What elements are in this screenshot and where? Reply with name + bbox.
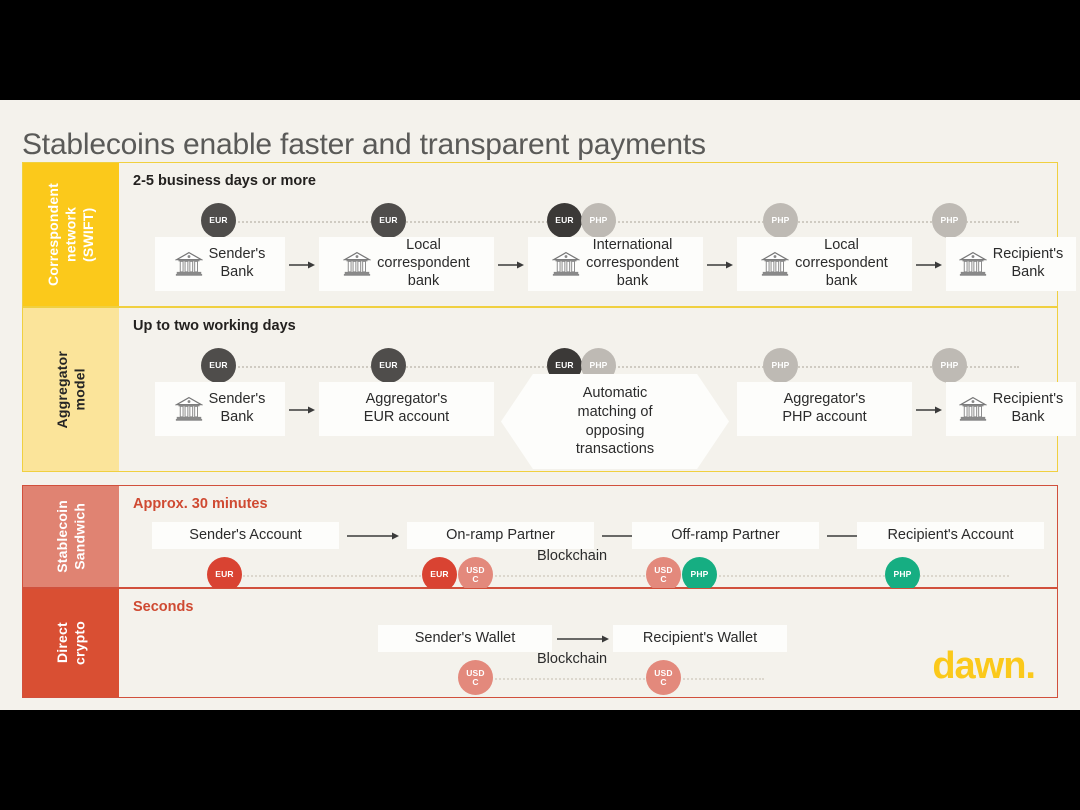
row-correspondent-network-swift: Correspondent network (SWIFT) 2-5 busine… — [22, 162, 1058, 307]
node-recipients-bank[interactable]: Recipient's Bank — [946, 237, 1076, 291]
badge-eur: EUR — [371, 203, 406, 238]
arrow-right-icon — [498, 259, 524, 271]
node-international-correspondent-bank[interactable]: International correspondent bank — [528, 237, 703, 291]
node-senders-account[interactable]: Sender's Account — [152, 522, 339, 549]
arrow-right-icon — [916, 259, 942, 271]
node-label: Sender's Bank — [209, 391, 266, 426]
badge-php: PHP — [932, 348, 967, 383]
node-label: On-ramp Partner — [446, 527, 555, 545]
node-label: Local correspondent bank — [795, 237, 888, 290]
badge-usdc: USD C — [458, 660, 493, 695]
badge-eur: EUR — [547, 203, 582, 238]
bank-icon — [175, 250, 203, 278]
arrow-right-icon — [557, 633, 609, 645]
node-label: Recipient's Wallet — [643, 630, 757, 648]
node-local-correspondent-bank[interactable]: Local correspondent bank — [737, 237, 912, 291]
sidebar-label: Aggregator model — [54, 351, 89, 428]
row-aggregator-model: Aggregator model Up to two working days … — [22, 307, 1058, 472]
badge-php: PHP — [763, 348, 798, 383]
badge-php: PHP — [682, 557, 717, 592]
row-content: Up to two working days EUR EUR EUR PHP P… — [119, 308, 1057, 471]
badge-eur: EUR — [371, 348, 406, 383]
blockchain-label: Blockchain — [537, 651, 607, 667]
arrow-right-icon — [916, 404, 942, 416]
bank-icon — [175, 395, 203, 423]
node-label: International correspondent bank — [586, 237, 679, 290]
arrow-right-icon — [707, 259, 733, 271]
page-title: Stablecoins enable faster and transparen… — [22, 128, 706, 162]
badge-usdc: USD C — [646, 557, 681, 592]
badge-php: PHP — [932, 203, 967, 238]
node-senders-wallet[interactable]: Sender's Wallet — [378, 625, 552, 652]
node-label: Recipient's Bank — [993, 246, 1063, 281]
node-aggregator-eur-account[interactable]: Aggregator's EUR account — [319, 382, 494, 436]
badge-usdc: USD C — [458, 557, 493, 592]
node-label: Recipient's Bank — [993, 391, 1063, 426]
sidebar-label: Stablecoin Sandwich — [54, 500, 89, 573]
bank-icon — [552, 250, 580, 278]
node-label: Automatic matching of opposing transacti… — [576, 384, 654, 459]
row-content: 2-5 business days or more EUR EUR EUR PH… — [119, 163, 1057, 306]
badge-php: PHP — [763, 203, 798, 238]
badge-eur: EUR — [201, 348, 236, 383]
bank-icon — [959, 395, 987, 423]
row-stablecoin-sandwich: Stablecoin Sandwich Approx. 30 minutes B… — [22, 485, 1058, 588]
row-heading: Seconds — [133, 599, 193, 615]
blockchain-rail — [464, 678, 764, 680]
node-label: Off-ramp Partner — [671, 527, 780, 545]
badge-php: PHP — [581, 203, 616, 238]
sidebar-stablecoin-sandwich: Stablecoin Sandwich — [23, 486, 119, 587]
currency-rail — [219, 221, 1019, 223]
badge-php: PHP — [885, 557, 920, 592]
node-label: Aggregator's EUR account — [364, 391, 449, 426]
badge-eur: EUR — [207, 557, 242, 592]
sidebar-correspondent-network-swift: Correspondent network (SWIFT) — [23, 163, 119, 306]
node-recipients-bank[interactable]: Recipient's Bank — [946, 382, 1076, 436]
bank-icon — [343, 250, 371, 278]
row-content: Approx. 30 minutes Blockchain EUR EUR US… — [119, 486, 1057, 587]
node-off-ramp-partner[interactable]: Off-ramp Partner — [632, 522, 819, 549]
arrow-right-icon — [289, 404, 315, 416]
row-heading: 2-5 business days or more — [133, 173, 316, 189]
blockchain-label: Blockchain — [537, 548, 607, 564]
row-heading: Up to two working days — [133, 318, 296, 334]
dawn-logo: dawn. — [932, 647, 1035, 685]
sidebar-aggregator-model: Aggregator model — [23, 308, 119, 471]
node-local-correspondent-bank[interactable]: Local correspondent bank — [319, 237, 494, 291]
bank-icon — [761, 250, 789, 278]
node-label: Local correspondent bank — [377, 237, 470, 290]
arrow-right-icon — [289, 259, 315, 271]
row-content: Seconds Blockchain USD C USD C Sender's … — [119, 589, 1057, 697]
node-label: Aggregator's PHP account — [782, 391, 866, 426]
node-recipients-account[interactable]: Recipient's Account — [857, 522, 1044, 549]
arrow-right-icon — [347, 530, 399, 542]
bank-icon — [959, 250, 987, 278]
node-on-ramp-partner[interactable]: On-ramp Partner — [407, 522, 594, 549]
sidebar-label: Correspondent network (SWIFT) — [45, 183, 98, 286]
currency-rail — [219, 366, 1019, 368]
node-senders-bank[interactable]: Sender's Bank — [155, 382, 285, 436]
row-heading: Approx. 30 minutes — [133, 496, 268, 512]
node-label: Recipient's Account — [887, 527, 1013, 545]
node-label: Sender's Account — [189, 527, 301, 545]
node-label: Sender's Bank — [209, 246, 266, 281]
node-label: Sender's Wallet — [415, 630, 516, 648]
sidebar-direct-crypto: Direct crypto — [23, 589, 119, 697]
node-aggregator-php-account[interactable]: Aggregator's PHP account — [737, 382, 912, 436]
row-direct-crypto: Direct crypto Seconds Blockchain USD C U… — [22, 588, 1058, 698]
node-automatic-matching[interactable]: Automatic matching of opposing transacti… — [501, 374, 729, 469]
badge-usdc: USD C — [646, 660, 681, 695]
badge-eur: EUR — [422, 557, 457, 592]
node-senders-bank[interactable]: Sender's Bank — [155, 237, 285, 291]
slide-canvas: Stablecoins enable faster and transparen… — [0, 100, 1080, 710]
node-recipients-wallet[interactable]: Recipient's Wallet — [613, 625, 787, 652]
sidebar-label: Direct crypto — [54, 621, 89, 665]
badge-eur: EUR — [201, 203, 236, 238]
